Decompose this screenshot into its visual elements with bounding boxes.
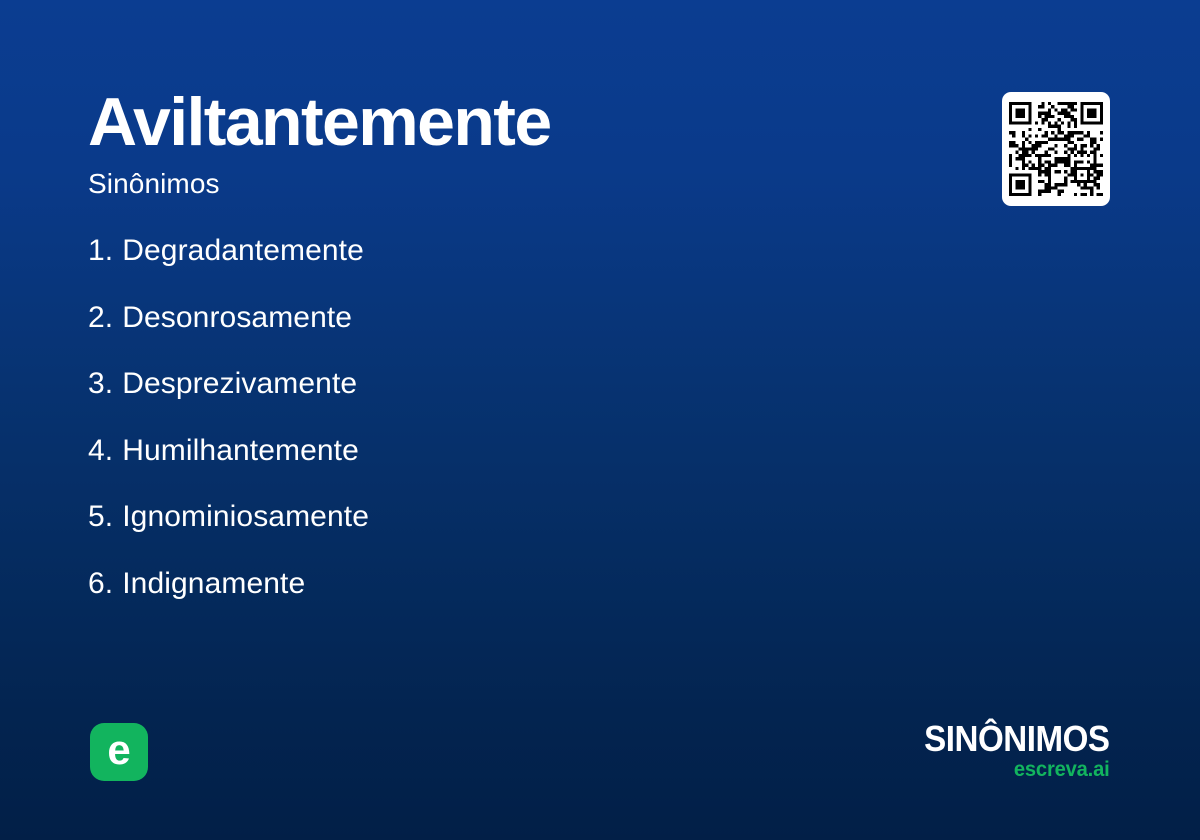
brand-sub: escreva.ai <box>917 759 1110 780</box>
list-item: 6. Indignamente <box>88 567 369 634</box>
synonyms-card: Aviltantemente Sinônimos 1. Degradanteme… <box>0 0 1200 840</box>
list-item-label: Desonrosamente <box>122 301 352 335</box>
list-item-index: 5. <box>88 500 113 534</box>
list-item-index: 3. <box>88 367 113 401</box>
brand-name: SINÔNIMOS <box>925 722 1110 756</box>
list-item: 3. Desprezivamente <box>88 367 369 434</box>
list-item-label: Humilhantemente <box>122 434 359 468</box>
page-subtitle: Sinônimos <box>88 170 551 198</box>
list-item: 4. Humilhantemente <box>88 434 369 501</box>
qr-code-icon <box>1009 102 1103 196</box>
list-item-label: Ignominiosamente <box>122 500 369 534</box>
synonyms-list: 1. Degradantemente 2. Desonrosamente 3. … <box>88 234 369 633</box>
list-item: 1. Degradantemente <box>88 234 369 301</box>
list-item: 2. Desonrosamente <box>88 301 369 368</box>
list-item-label: Degradantemente <box>122 234 364 268</box>
list-item-label: Indignamente <box>122 567 305 601</box>
list-item-index: 1. <box>88 234 113 268</box>
app-icon-letter: e <box>107 729 130 771</box>
qr-code[interactable] <box>1002 92 1110 206</box>
list-item-index: 4. <box>88 434 113 468</box>
list-item-label: Desprezivamente <box>122 367 357 401</box>
list-item-index: 6. <box>88 567 113 601</box>
brand-logo: SINÔNIMOS escreva.ai <box>908 722 1110 780</box>
list-item-index: 2. <box>88 301 113 335</box>
escreva-app-icon[interactable]: e <box>90 723 148 781</box>
list-item: 5. Ignominiosamente <box>88 500 369 567</box>
header: Aviltantemente Sinônimos <box>88 88 551 198</box>
page-title: Aviltantemente <box>88 88 551 156</box>
